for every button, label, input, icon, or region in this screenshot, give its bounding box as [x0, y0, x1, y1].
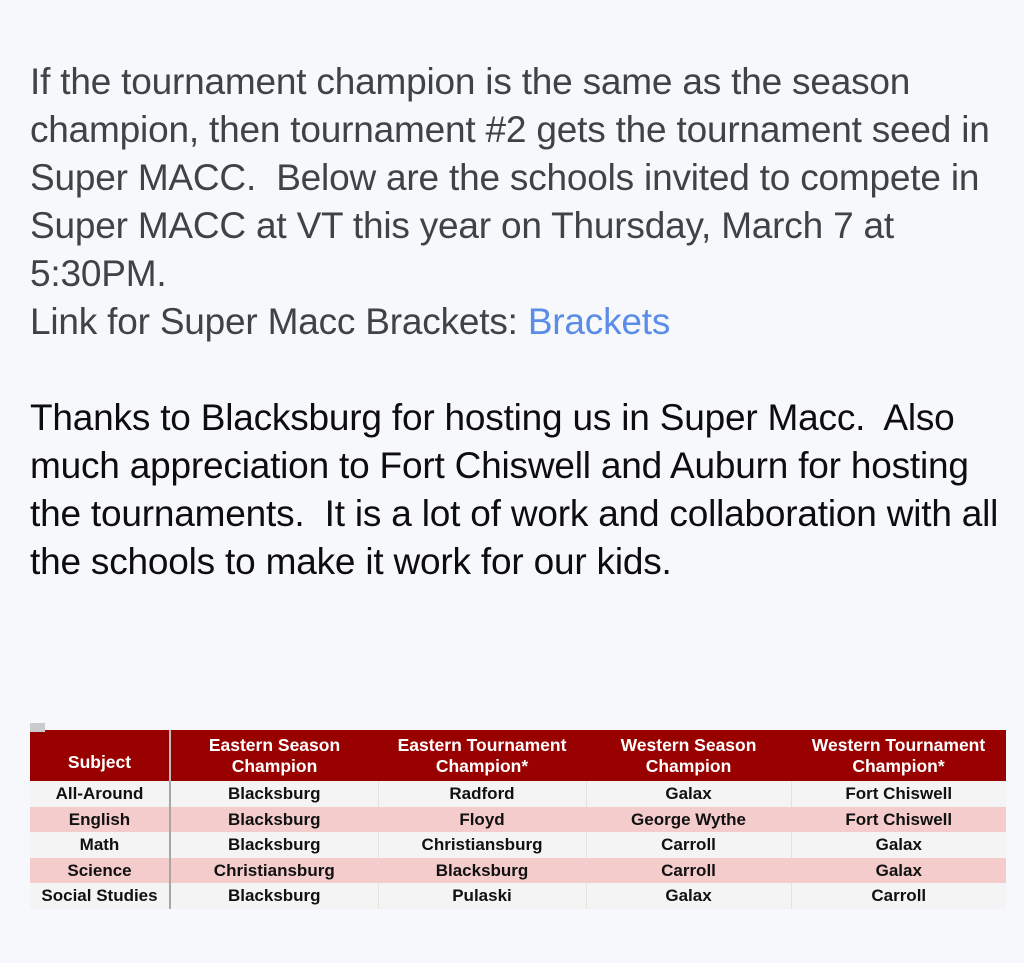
- brackets-link[interactable]: Brackets: [528, 301, 670, 342]
- column-header-eastern-tournament-line1: Eastern Tournament: [398, 735, 567, 755]
- table-body: All-Around Blacksburg Radford Galax Fort…: [30, 781, 1006, 909]
- cell-western-tournament: Carroll: [791, 883, 1006, 909]
- cell-eastern-tournament: Floyd: [378, 807, 586, 833]
- cell-subject: Science: [30, 858, 170, 884]
- cell-subject: All-Around: [30, 781, 170, 807]
- cell-western-season: Carroll: [586, 832, 791, 858]
- column-header-subject: Subject: [30, 730, 170, 781]
- cell-western-season: Carroll: [586, 858, 791, 884]
- cell-western-season: Galax: [586, 781, 791, 807]
- paragraph-thanks: Thanks to Blacksburg for hosting us in S…: [30, 394, 1005, 586]
- column-header-eastern-tournament-line2: Champion*: [436, 756, 528, 776]
- cell-eastern-tournament: Radford: [378, 781, 586, 807]
- cell-eastern-tournament: Blacksburg: [378, 858, 586, 884]
- column-header-western-tournament-line1: Western Tournament: [812, 735, 985, 755]
- cell-western-tournament: Galax: [791, 858, 1006, 884]
- column-header-western-season: Western Season Champion: [586, 730, 791, 781]
- cell-western-season: George Wythe: [586, 807, 791, 833]
- paragraph-announcement: If the tournament champion is the same a…: [30, 58, 1005, 298]
- cell-eastern-season: Blacksburg: [170, 807, 378, 833]
- column-header-subject-line1: Subject: [68, 752, 131, 772]
- champions-table-container: Subject Eastern Season Champion Eastern …: [30, 730, 1006, 909]
- table-row: Math Blacksburg Christiansburg Carroll G…: [30, 832, 1006, 858]
- cell-eastern-season: Blacksburg: [170, 883, 378, 909]
- cell-western-tournament: Fort Chiswell: [791, 807, 1006, 833]
- table-row: Social Studies Blacksburg Pulaski Galax …: [30, 883, 1006, 909]
- bracket-link-line: Link for Super Macc Brackets: Brackets: [30, 298, 1005, 346]
- cell-eastern-tournament: Christiansburg: [378, 832, 586, 858]
- cell-eastern-season: Blacksburg: [170, 832, 378, 858]
- cell-western-tournament: Galax: [791, 832, 1006, 858]
- column-header-eastern-season-line2: Champion: [232, 756, 318, 776]
- body-copy: If the tournament champion is the same a…: [30, 58, 1005, 586]
- column-header-eastern-season-line1: Eastern Season: [209, 735, 340, 755]
- table-row: Science Christiansburg Blacksburg Carrol…: [30, 858, 1006, 884]
- cell-western-season: Galax: [586, 883, 791, 909]
- column-header-western-tournament-line2: Champion*: [852, 756, 944, 776]
- cell-eastern-tournament: Pulaski: [378, 883, 586, 909]
- bracket-link-label: Link for Super Macc Brackets:: [30, 301, 528, 342]
- cell-western-tournament: Fort Chiswell: [791, 781, 1006, 807]
- column-header-eastern-season: Eastern Season Champion: [170, 730, 378, 781]
- column-header-western-season-line1: Western Season: [621, 735, 757, 755]
- cell-subject: English: [30, 807, 170, 833]
- sheet-corner-handle-icon: [30, 723, 45, 732]
- table-row: English Blacksburg Floyd George Wythe Fo…: [30, 807, 1006, 833]
- champions-table: Subject Eastern Season Champion Eastern …: [30, 730, 1006, 909]
- page-root: If the tournament champion is the same a…: [0, 0, 1024, 963]
- column-header-eastern-tournament: Eastern Tournament Champion*: [378, 730, 586, 781]
- table-header-row: Subject Eastern Season Champion Eastern …: [30, 730, 1006, 781]
- cell-subject: Math: [30, 832, 170, 858]
- cell-eastern-season: Christiansburg: [170, 858, 378, 884]
- table-header: Subject Eastern Season Champion Eastern …: [30, 730, 1006, 781]
- table-row: All-Around Blacksburg Radford Galax Fort…: [30, 781, 1006, 807]
- column-header-western-tournament: Western Tournament Champion*: [791, 730, 1006, 781]
- cell-subject: Social Studies: [30, 883, 170, 909]
- cell-eastern-season: Blacksburg: [170, 781, 378, 807]
- column-header-western-season-line2: Champion: [646, 756, 732, 776]
